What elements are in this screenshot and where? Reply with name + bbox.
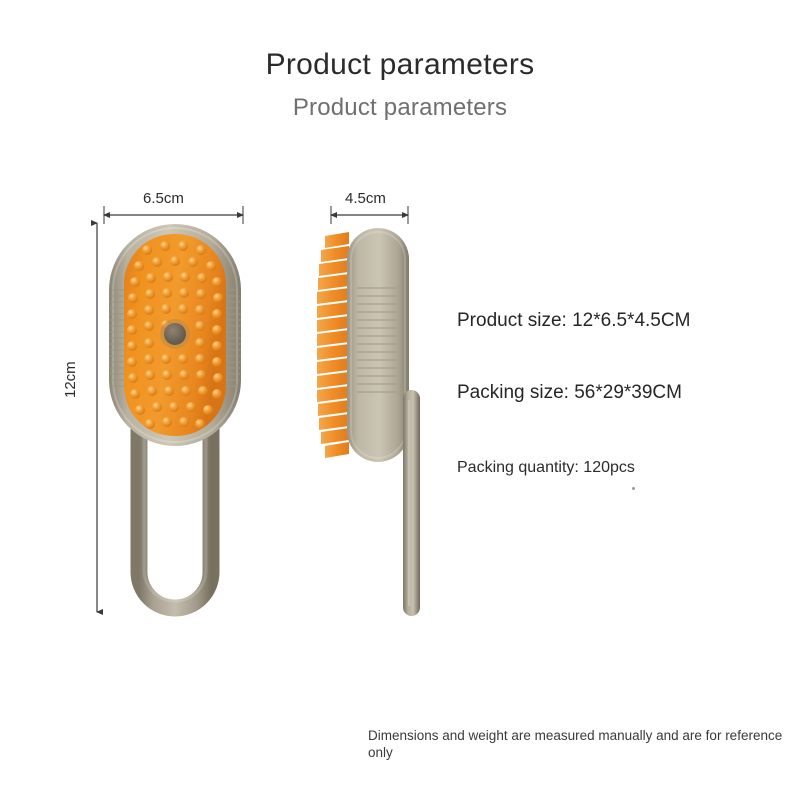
- side-beige-body: [347, 228, 409, 462]
- spec-packing-quantity: Packing quantity: 120pcs: [457, 459, 635, 477]
- orange-bristle-row: [317, 232, 349, 458]
- measurement-disclaimer: Dimensions and weight are measured manua…: [368, 727, 788, 762]
- page-title: Product parameters: [0, 48, 800, 82]
- dimension-label-front-width: 6.5cm: [143, 190, 184, 207]
- page-subtitle: Product parameters: [0, 94, 800, 122]
- spec-product-size: Product size: 12*6.5*4.5CM: [457, 310, 690, 332]
- stray-dot-artifact: [632, 487, 635, 490]
- side-handle-bar: [403, 390, 420, 616]
- cat-steam-brush-front-view: [95, 222, 255, 622]
- cat-steam-brush-side-view: [305, 222, 455, 622]
- center-nozzle-hole: [160, 319, 190, 349]
- dimension-label-side-width: 4.5cm: [345, 190, 386, 207]
- dimension-label-front-height: 12cm: [62, 361, 79, 398]
- spec-packing-size: Packing size: 56*29*39CM: [457, 382, 682, 404]
- product-parameters-page: Product parameters Product parameters 6.…: [0, 0, 800, 800]
